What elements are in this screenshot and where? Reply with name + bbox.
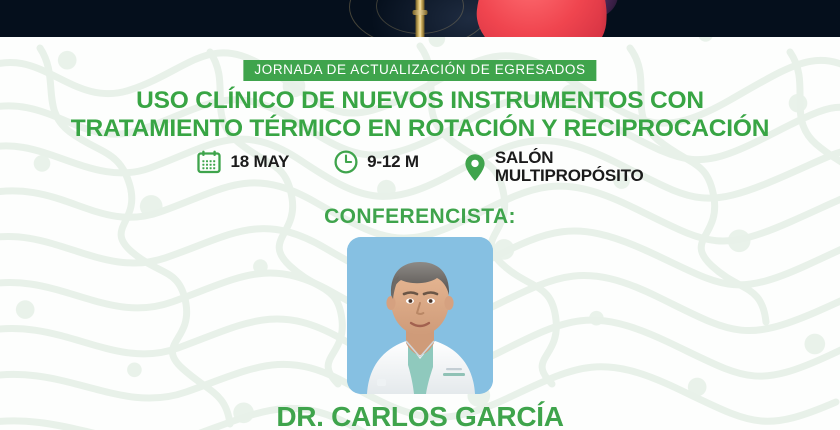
event-details-row: 18 MAY 9-12 M: [0, 149, 840, 185]
red-handpiece-object: [472, 0, 614, 37]
event-time-value: 9-12 M: [367, 153, 419, 171]
event-time: 9-12 M: [333, 149, 419, 175]
map-pin-icon: [463, 153, 487, 182]
page-title-line1: USO CLÍNICO DE NUEVOS INSTRUMENTOS CON: [136, 87, 704, 114]
clock-icon: [333, 149, 359, 175]
gold-instrument-icon: [416, 0, 425, 37]
event-poster: JORNADA DE ACTUALIZACIÓN DE EGRESADOS US…: [0, 0, 840, 430]
speaker-photo: [347, 237, 493, 394]
page-title: USO CLÍNICO DE NUEVOS INSTRUMENTOS CON T…: [0, 87, 840, 143]
event-kicker-badge: JORNADA DE ACTUALIZACIÓN DE EGRESADOS: [243, 60, 596, 81]
event-date: 18 MAY: [196, 149, 289, 175]
header-dark-gradient: [600, 0, 840, 37]
event-location: SALÓN MULTIPROPÓSITO: [463, 149, 644, 185]
speaker-name: DR. CARLOS GARCÍA: [0, 401, 840, 430]
event-date-value: 18 MAY: [230, 153, 289, 171]
page-title-line2: TRATAMIENTO TÉRMICO EN ROTACIÓN Y RECIPR…: [0, 115, 840, 143]
event-location-line2: MULTIPROPÓSITO: [495, 167, 644, 185]
speaker-heading: CONFERENCISTA:: [0, 205, 840, 229]
poster-content: JORNADA DE ACTUALIZACIÓN DE EGRESADOS US…: [0, 37, 840, 430]
header-image-band: [0, 0, 840, 37]
event-location-line1: SALÓN: [495, 149, 644, 167]
event-location-value: SALÓN MULTIPROPÓSITO: [495, 149, 644, 185]
calendar-icon: [196, 149, 222, 175]
